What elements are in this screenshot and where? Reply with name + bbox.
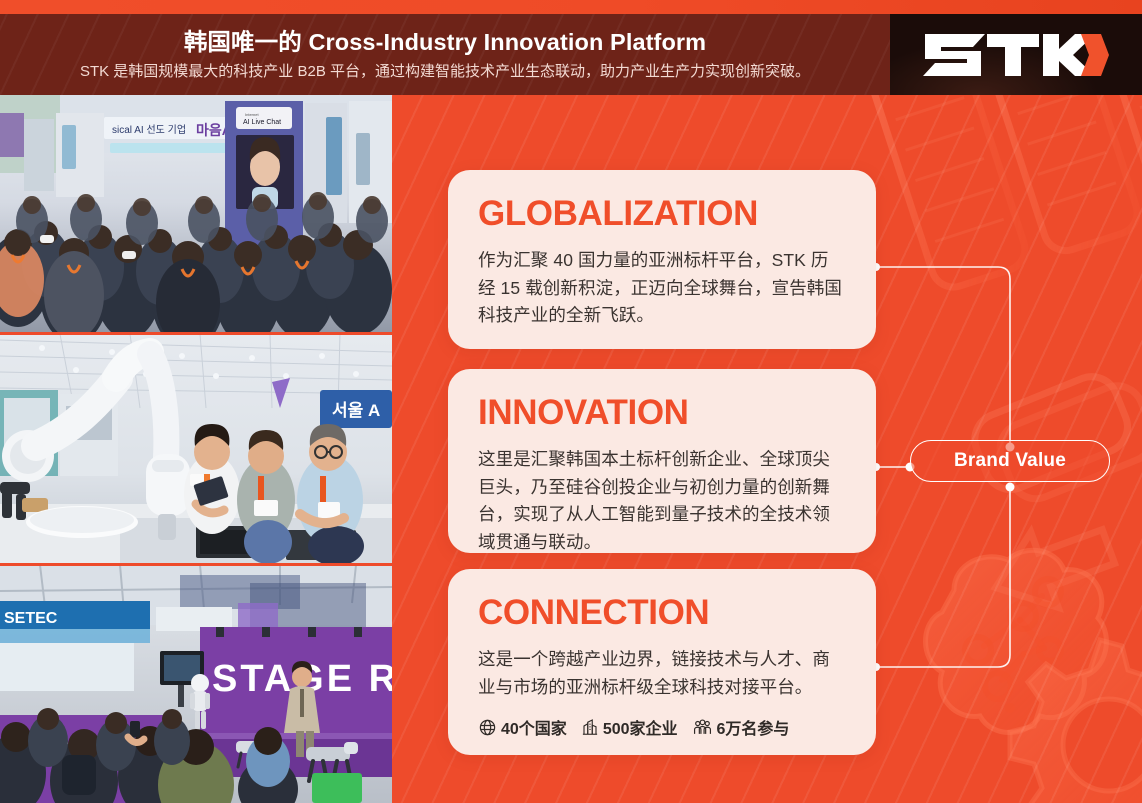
card-title: INNOVATION bbox=[478, 395, 846, 430]
card-innovation: INNOVATION 这里是汇聚韩国本土标杆创新企业、全球顶尖巨头，乃至硅谷创投… bbox=[448, 369, 876, 553]
svg-text:서울 A: 서울 A bbox=[332, 401, 380, 420]
card-body: 这里是汇聚韩国本土标杆创新企业、全球顶尖巨头，乃至硅谷创投企业与初创力量的创新舞… bbox=[478, 446, 846, 557]
page-subtitle: STK 是韩国规模最大的科技产业 B2B 平台，通过构建智能技术产业生态联动，助… bbox=[80, 63, 810, 81]
stat-label: 40个国家 bbox=[501, 715, 567, 739]
card-title: GLOBALIZATION bbox=[478, 196, 846, 231]
stk-logo bbox=[923, 28, 1109, 82]
page-title: 韩国唯一的 Cross-Industry Innovation Platform bbox=[184, 28, 706, 56]
svg-text:Internet: Internet bbox=[245, 112, 259, 117]
card-globalization: GLOBALIZATION 作为汇聚 40 国力量的亚洲标杆平台，STK 历经 … bbox=[448, 170, 876, 349]
photo-separator bbox=[0, 563, 392, 566]
poster-root: Brand Value sical AI 선 bbox=[0, 0, 1142, 803]
building-icon bbox=[581, 718, 599, 737]
brand-value-badge[interactable]: Brand Value bbox=[910, 440, 1110, 482]
card-title: CONNECTION bbox=[478, 595, 846, 630]
photo-separator bbox=[0, 332, 392, 335]
stat-companies: 500家企业 bbox=[581, 715, 678, 739]
header-text-block: 韩国唯一的 Cross-Industry Innovation Platform… bbox=[0, 14, 890, 95]
svg-text:AI Live Chat: AI Live Chat bbox=[243, 119, 281, 126]
stat-label: 500家企业 bbox=[603, 715, 678, 739]
card-body: 这是一个跨越产业边界，链接技术与人才、商业与市场的亚洲标杆级全球科技对接平台。 bbox=[478, 646, 846, 701]
stat-label: 6万名参与 bbox=[717, 715, 790, 739]
stat-countries: 40个国家 bbox=[478, 715, 567, 739]
connection-stats: 40个国家 500家企业 bbox=[478, 715, 846, 739]
card-body: 作为汇聚 40 国力量的亚洲标杆平台，STK 历经 15 载创新积淀，正迈向全球… bbox=[478, 247, 846, 330]
photo-robot-arm-demo: 서울 A bbox=[0, 334, 392, 565]
top-accent-strip bbox=[0, 0, 1142, 14]
stat-attendees: 6万名参与 bbox=[692, 715, 790, 739]
photo-expo-crowd: sical AI 선도 기업 마음A Internet AI Live Chat bbox=[0, 95, 392, 334]
card-connection: CONNECTION 这是一个跨越产业边界，链接技术与人才、商业与市场的亚洲标杆… bbox=[448, 569, 876, 755]
photo-robot-stage-demo: SETEC STAGE R bbox=[0, 565, 392, 803]
globe-icon bbox=[478, 718, 497, 737]
photo-collage: sical AI 선도 기업 마음A Internet AI Live Chat bbox=[0, 95, 392, 803]
svg-text:SETEC: SETEC bbox=[4, 610, 58, 627]
brand-value-label: Brand Value bbox=[954, 450, 1066, 472]
svg-text:sical AI 선도 기업: sical AI 선도 기업 bbox=[112, 123, 186, 136]
people-icon bbox=[692, 718, 713, 737]
logo-panel bbox=[890, 14, 1142, 95]
